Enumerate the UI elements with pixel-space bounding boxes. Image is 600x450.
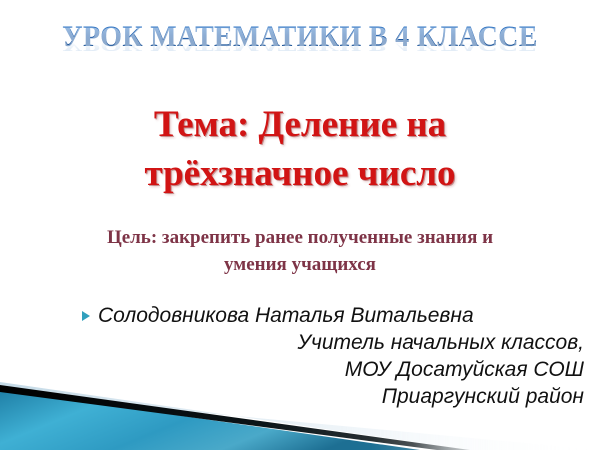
topic-heading: Тема: Деление на трёхзначное число xyxy=(0,100,600,198)
page-title-reflection: УРОК МАТЕМАТИКИ В 4 КЛАССЕ xyxy=(21,37,579,54)
banner-title-block: УРОК МАТЕМАТИКИ В 4 КЛАССЕ УРОК МАТЕМАТИ… xyxy=(0,22,600,92)
author-school: МОУ Досатуйская СОШ xyxy=(0,356,584,383)
goal-block: Цель: закрепить ранее полученные знания … xyxy=(48,224,552,278)
presentation-slide: УРОК МАТЕМАТИКИ В 4 КЛАССЕ УРОК МАТЕМАТИ… xyxy=(0,0,600,450)
triangle-bullet-icon xyxy=(82,311,90,321)
author-first-row: Солодовникова Наталья Витальевна xyxy=(0,302,600,329)
author-name: Солодовникова Наталья Витальевна xyxy=(98,304,474,327)
topic-line-1: Тема: Деление на xyxy=(0,100,600,149)
author-role: Учитель начальных классов, xyxy=(0,329,584,356)
goal-line-2: умения учащихся xyxy=(48,251,552,278)
page-title: УРОК МАТЕМАТИКИ В 4 КЛАССЕ xyxy=(21,22,579,52)
author-detail-rows: Учитель начальных классов, МОУ Досатуйск… xyxy=(0,329,600,410)
author-district: Приаргунский район xyxy=(0,383,584,410)
topic-line-2: трёхзначное число xyxy=(0,149,600,198)
author-block: Солодовникова Наталья Витальевна Учитель… xyxy=(0,302,600,410)
goal-line-1: Цель: закрепить ранее полученные знания … xyxy=(48,224,552,251)
bottom-left-teal-wedge xyxy=(0,360,600,450)
